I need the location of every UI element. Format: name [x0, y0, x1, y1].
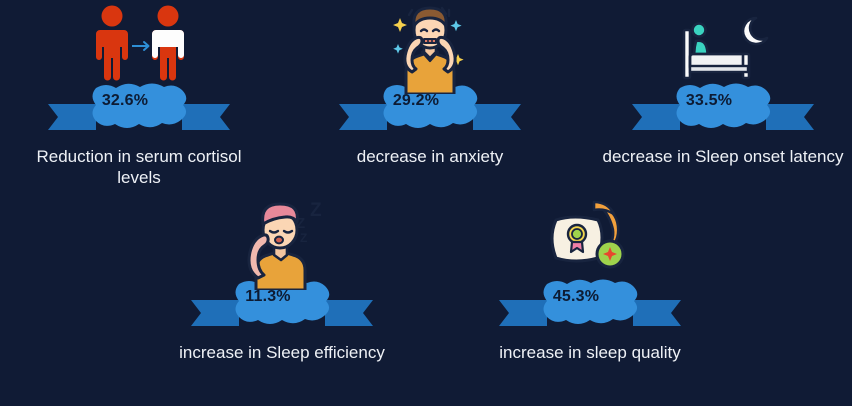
stat-percent: 29.2% [311, 92, 521, 110]
infographic-canvas: 32.6% Reduction in serum cortisol levels [0, 0, 852, 406]
stat-percent: 45.3% [471, 288, 681, 306]
stat-caption: decrease in Sleep onset latency [598, 146, 848, 167]
ribbon-banner: 45.3% [485, 282, 695, 338]
ribbon-banner: 29.2% [325, 86, 535, 142]
ribbon-banner: 33.5% [618, 86, 828, 142]
two-person-figures-icon [79, 2, 199, 94]
stat-caption: Reduction in serum cortisol levels [14, 146, 264, 188]
stat-percent: 11.3% [163, 288, 373, 306]
svg-text:Z: Z [300, 231, 307, 245]
stat-card-sleep-onset: 33.5% decrease in Sleep onset latency [598, 2, 848, 167]
pillow-award-badge-icon [530, 198, 650, 290]
stat-percent: 32.6% [20, 92, 230, 110]
stat-card-sleep-efficiency: Z Z Z [162, 198, 402, 363]
sleepy-person-zzz-icon: Z Z Z [222, 198, 342, 290]
stat-card-anxiety: 29.2% decrease in anxiety [310, 2, 550, 167]
ribbon-banner: 11.3% [177, 282, 387, 338]
stat-card-sleep-quality: 45.3% increase in sleep quality [460, 198, 720, 363]
svg-text:Z: Z [310, 200, 322, 221]
stat-caption: decrease in anxiety [310, 146, 550, 167]
stat-caption: increase in sleep quality [460, 342, 720, 363]
stressed-person-icon [370, 2, 490, 94]
stat-caption: increase in Sleep efficiency [162, 342, 402, 363]
ribbon-banner: 32.6% [34, 86, 244, 142]
person-in-bed-with-moon-icon [663, 2, 783, 94]
stat-percent: 33.5% [604, 92, 814, 110]
stat-card-cortisol: 32.6% Reduction in serum cortisol levels [14, 2, 264, 188]
